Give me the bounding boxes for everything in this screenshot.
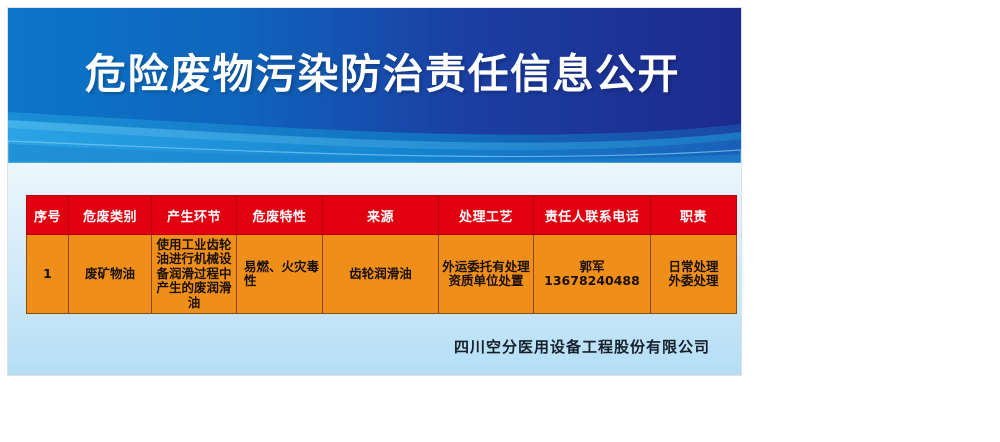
column-header-duty: 职责 [651,196,737,235]
responsible-person-phone: 13678240488 [537,274,647,289]
cell-treatment-process: 外运委托有处理资质单位处置 [439,235,534,314]
cell-responsible-contact: 郭军 13678240488 [534,235,651,314]
table-row: 1 废矿物油 使用工业齿轮油进行机械设备润滑过程中产生的废润滑油 易燃、火灾毒性… [27,235,737,314]
poster-banner: 危险废物污染防治责任信息公开 [8,8,741,163]
cell-duty: 日常处理 外委处理 [651,235,737,314]
cell-hazard-property: 易燃、火灾毒性 [237,235,323,314]
column-header-generation: 产生环节 [152,196,237,235]
column-header-hazard: 危废特性 [237,196,323,235]
table-header-row: 序号 危废类别 产生环节 危废特性 来源 处理工艺 责任人联系电话 职责 [27,196,737,235]
column-header-source: 来源 [323,196,439,235]
company-name: 四川空分医用设备工程股份有限公司 [26,336,724,357]
responsible-person-name: 郭军 [537,260,647,275]
column-header-seq: 序号 [27,196,69,235]
cell-seq: 1 [27,235,69,314]
column-header-treatment: 处理工艺 [439,196,534,235]
cell-generation-step: 使用工业齿轮油进行机械设备润滑过程中产生的废润滑油 [152,235,237,314]
cell-category: 废矿物油 [69,235,152,314]
column-header-contact: 责任人联系电话 [534,196,651,235]
cell-source: 齿轮润滑油 [323,235,439,314]
column-header-category: 危废类别 [69,196,152,235]
information-disclosure-poster: 危险废物污染防治责任信息公开 序号 危废类别 产生环节 危废特性 来源 处理工艺… [8,8,741,375]
hazardous-waste-table: 序号 危废类别 产生环节 危废特性 来源 处理工艺 责任人联系电话 职责 1 废… [26,195,737,314]
page-title: 危险废物污染防治责任信息公开 [8,8,741,132]
